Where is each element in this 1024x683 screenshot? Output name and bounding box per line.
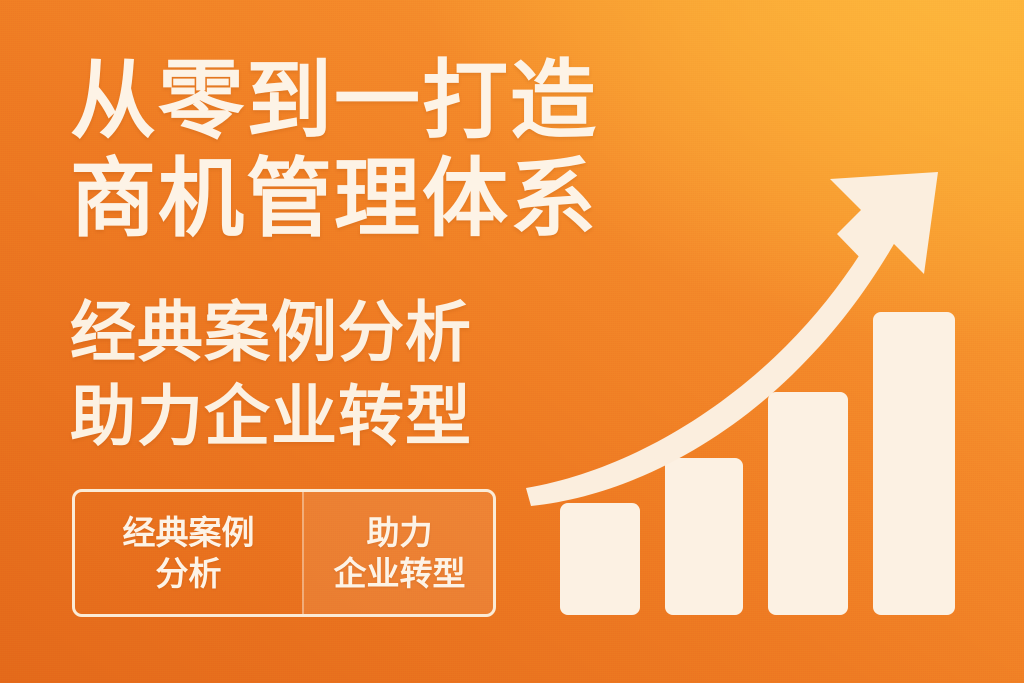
badge-cell-left: 经典案例 分析 — [75, 492, 302, 614]
subheadline-line-2: 助力企业转型 — [70, 374, 472, 458]
headline-line-1: 从零到一打造 — [70, 52, 598, 150]
chart-bar-4 — [873, 312, 955, 615]
poster-canvas: 从零到一打造 商机管理体系 经典案例分析 助力企业转型 经典案例 分析 助力 企… — [0, 0, 1024, 683]
headline-line-2: 商机管理体系 — [70, 150, 598, 248]
badge-right-line-1: 助力 — [367, 512, 433, 553]
subheadline-line-1: 经典案例分析 — [70, 290, 472, 374]
headline: 从零到一打造 商机管理体系 — [70, 52, 598, 248]
subheadline: 经典案例分析 助力企业转型 — [70, 290, 472, 458]
badge-cell-right: 助力 企业转型 — [302, 492, 495, 614]
chart-bar-3 — [768, 392, 848, 615]
badge-box: 经典案例 分析 助力 企业转型 — [72, 489, 496, 617]
badge-left-line-2: 分析 — [156, 553, 222, 594]
chart-bar-1 — [560, 503, 640, 615]
badge-left-line-1: 经典案例 — [123, 512, 255, 553]
chart-bar-2 — [665, 458, 743, 615]
badge-right-line-2: 企业转型 — [334, 553, 466, 594]
